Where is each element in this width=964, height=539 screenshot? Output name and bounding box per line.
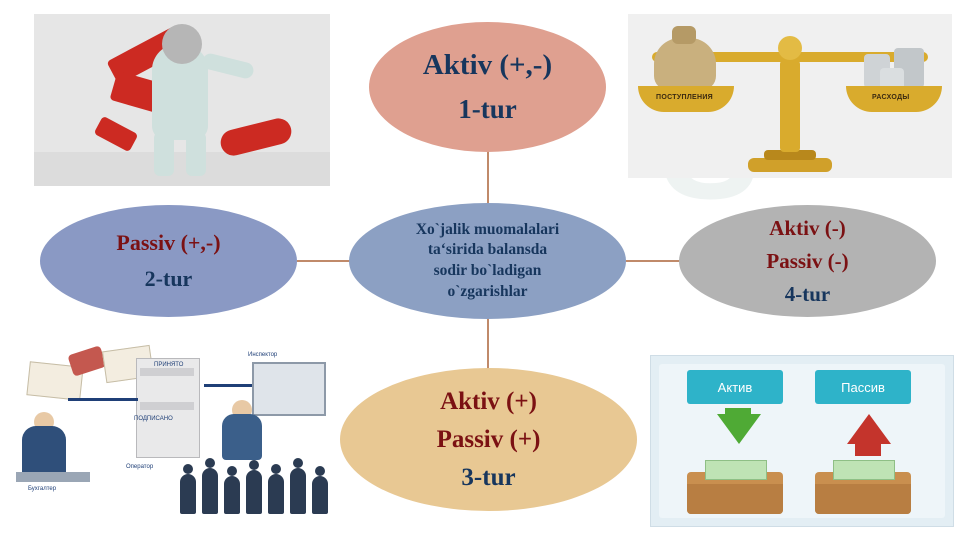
scale-left-pan-label: ПОСТУПЛЕНИЯ	[656, 94, 713, 101]
illustration-balance-scale: ПОСТУПЛЕНИЯ РАСХОДЫ	[628, 14, 952, 178]
arrow-up-icon	[847, 414, 891, 444]
connector-center-left	[297, 260, 351, 262]
illustration-aktiv-passiv-flow: Актив Пассив	[650, 355, 954, 527]
node-center[interactable]: Xo`jalik muomalalari ta‘sirida balansda …	[349, 203, 626, 319]
connector-center-bottom	[487, 318, 489, 372]
node-aktiv-passiv-plus[interactable]: Aktiv (+) Passiv (+) 3-tur	[340, 368, 637, 511]
crowd-silhouettes	[176, 456, 336, 514]
office-label-inspector: Инспектор	[248, 352, 277, 358]
card-passiv: Пассив	[815, 370, 911, 404]
node-left-line-2: 2-tur	[145, 266, 193, 292]
node-passiv-plus-minus[interactable]: Passiv (+,-) 2-tur	[40, 205, 297, 317]
connector-center-top	[487, 150, 489, 206]
node-aktiv-passiv-minus[interactable]: Aktiv (-) Passiv (-) 4-tur	[679, 205, 936, 317]
office-label-accepted: ПРИНЯТО	[154, 362, 183, 368]
node-bottom-line-3: 3-tur	[461, 464, 515, 492]
node-aktiv-plus-minus[interactable]: Aktiv (+,-) 1-tur	[369, 22, 606, 152]
node-bottom-line-1: Aktiv (+)	[440, 388, 537, 416]
center-line-2: ta‘sirida balansda	[428, 240, 547, 261]
node-right-line-1: Aktiv (-)	[769, 216, 845, 241]
illustration-person-with-arrows	[34, 14, 330, 186]
office-label-signed: ПОДПИСАНО	[134, 416, 173, 422]
connector-center-right	[626, 260, 680, 262]
center-line-4: o`zgarishlar	[447, 282, 527, 303]
wallet-left	[687, 472, 783, 514]
illustration-office-workflow: Бухгалтер Оператор Инспектор ПОДПИСАНО П…	[8, 340, 338, 520]
node-right-line-2: Passiv (-)	[766, 249, 848, 274]
node-top-line-1: Aktiv (+,-)	[423, 49, 552, 82]
office-label-accountant: Бухгалтер	[28, 486, 56, 492]
node-left-line-1: Passiv (+,-)	[116, 230, 220, 256]
wallet-right	[815, 472, 911, 514]
node-right-line-3: 4-tur	[785, 282, 831, 307]
node-top-line-2: 1-tur	[458, 94, 516, 125]
node-bottom-line-2: Passiv (+)	[437, 426, 541, 454]
card-aktiv: Актив	[687, 370, 783, 404]
center-line-1: Xo`jalik muomalalari	[416, 220, 559, 241]
scale-right-pan-label: РАСХОДЫ	[872, 94, 910, 101]
slide-canvas: S S S S ПОСТУПЛЕНИЯ РАСХОДЫ	[0, 0, 964, 539]
center-line-3: sodir bo`ladigan	[434, 261, 542, 282]
arrow-down-icon	[717, 414, 761, 444]
office-label-operator: Оператор	[126, 464, 153, 470]
